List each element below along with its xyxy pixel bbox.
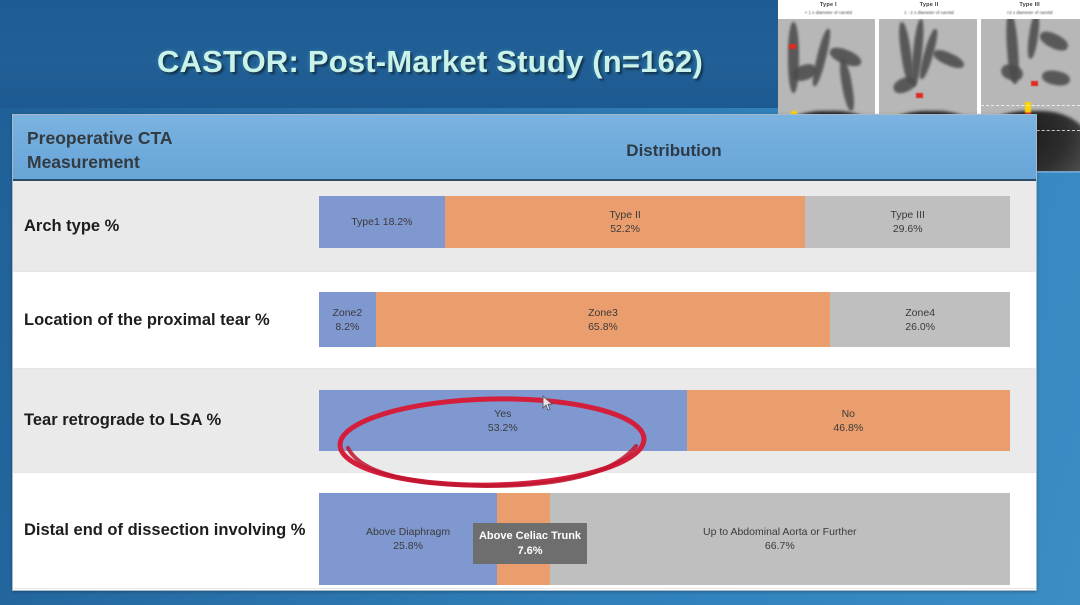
bar-segment-zone2[interactable]: Zone2 8.2% xyxy=(319,292,376,347)
slide-root: CASTOR: Post-Market Study (n=162) Type I… xyxy=(0,0,1080,605)
bar-segment-value: 29.6% xyxy=(893,222,923,236)
bar-segment-value: 53.2% xyxy=(488,421,518,435)
bar-segment-value: 46.8% xyxy=(833,421,863,435)
bar-segment-type1[interactable]: Type1 18.2% xyxy=(319,196,445,248)
column-header-measurement-line1: Preoperative CTA xyxy=(27,126,327,150)
bar-segment-no[interactable]: No 46.8% xyxy=(687,390,1010,451)
bar-segment-label: Type II xyxy=(609,208,641,222)
row-bar-container: Above Diaphragm 25.8% Up to Abdominal Ao… xyxy=(319,473,1036,588)
distribution-table: Preoperative CTA Measurement Distributio… xyxy=(12,114,1037,591)
bar-segment-yes[interactable]: Yes 53.2% xyxy=(319,390,687,451)
row-bar-container: Yes 53.2% No 46.8% xyxy=(319,369,1036,472)
stacked-bar-proximal-tear: Zone2 8.2% Zone3 65.8% Zone4 26.0% xyxy=(319,292,1010,347)
mouse-cursor-icon xyxy=(542,395,554,412)
bar-segment-label: Type1 18.2% xyxy=(351,215,412,229)
column-header-measurement: Preoperative CTA Measurement xyxy=(27,126,327,174)
row-label-proximal-tear: Location of the proximal tear % xyxy=(13,310,319,331)
tooltip-value: 7.6% xyxy=(517,544,542,559)
bar-segment-value: 66.7% xyxy=(765,539,795,553)
table-header-row: Preoperative CTA Measurement Distributio… xyxy=(13,115,1036,181)
bar-segment-label: No xyxy=(842,407,855,421)
row-label-tear-retrograde: Tear retrograde to LSA % xyxy=(13,410,319,431)
table-row: Arch type % Type1 18.2% Type II 52.2% Ty… xyxy=(13,181,1036,272)
tooltip-above-celiac-trunk: Above Celiac Trunk 7.6% xyxy=(473,523,587,564)
row-bar-container: Type1 18.2% Type II 52.2% Type III 29.6% xyxy=(319,181,1036,271)
bar-segment-value: 65.8% xyxy=(588,320,618,334)
stacked-bar-distal-end: Above Diaphragm 25.8% Up to Abdominal Ao… xyxy=(319,493,1010,585)
column-header-measurement-line2: Measurement xyxy=(27,150,327,174)
angio-type-label: Type III xyxy=(979,0,1080,9)
bar-segment-value: 26.0% xyxy=(905,320,935,334)
table-row: Tear retrograde to LSA % Yes 53.2% No 46… xyxy=(13,369,1036,473)
bar-segment-above-diaphragm[interactable]: Above Diaphragm 25.8% xyxy=(319,493,497,585)
page-title: CASTOR: Post-Market Study (n=162) xyxy=(120,44,740,80)
bar-segment-label: Zone2 xyxy=(332,306,362,320)
angio-type-label: Type I xyxy=(778,0,879,9)
angio-caption-type3: Type III >2 x diameter of carotid xyxy=(979,0,1080,19)
bar-segment-abdominal-aorta[interactable]: Up to Abdominal Aorta or Further 66.7% xyxy=(550,493,1010,585)
table-row: Location of the proximal tear % Zone2 8.… xyxy=(13,272,1036,369)
bar-segment-label: Up to Abdominal Aorta or Further xyxy=(703,525,857,539)
table-row: Distal end of dissection involving % Abo… xyxy=(13,473,1036,589)
bar-segment-label: Zone4 xyxy=(905,306,935,320)
row-label-arch-type: Arch type % xyxy=(13,216,319,237)
bar-segment-label: Yes xyxy=(494,407,511,421)
bar-segment-type3[interactable]: Type III 29.6% xyxy=(805,196,1010,248)
angio-type-subtitle: 1 - 2 x diameter of carotid xyxy=(879,9,980,16)
column-header-distribution: Distribution xyxy=(599,141,749,161)
angio-type-label: Type II xyxy=(879,0,980,9)
bar-segment-type2[interactable]: Type II 52.2% xyxy=(445,196,806,248)
angio-type-subtitle: < 1 x diameter of carotid xyxy=(778,9,879,16)
bar-segment-label: Above Diaphragm xyxy=(366,525,450,539)
bar-segment-value: 52.2% xyxy=(610,222,640,236)
bar-segment-value: 25.8% xyxy=(393,539,423,553)
bar-segment-label: Zone3 xyxy=(588,306,618,320)
bar-segment-zone3[interactable]: Zone3 65.8% xyxy=(376,292,831,347)
tooltip-label: Above Celiac Trunk xyxy=(479,529,581,544)
angio-caption-type2: Type II 1 - 2 x diameter of carotid xyxy=(879,0,980,19)
bar-segment-label: Type III xyxy=(890,208,924,222)
row-bar-container: Zone2 8.2% Zone3 65.8% Zone4 26.0% xyxy=(319,272,1036,368)
stacked-bar-arch-type: Type1 18.2% Type II 52.2% Type III 29.6% xyxy=(319,196,1010,248)
row-label-distal-end: Distal end of dissection involving % xyxy=(13,520,319,541)
stacked-bar-tear-retrograde: Yes 53.2% No 46.8% xyxy=(319,390,1010,451)
angio-caption-type1: Type I < 1 x diameter of carotid xyxy=(778,0,879,19)
angio-type-subtitle: >2 x diameter of carotid xyxy=(979,9,1080,16)
bar-segment-zone4[interactable]: Zone4 26.0% xyxy=(830,292,1010,347)
bar-segment-value: 8.2% xyxy=(335,320,359,334)
